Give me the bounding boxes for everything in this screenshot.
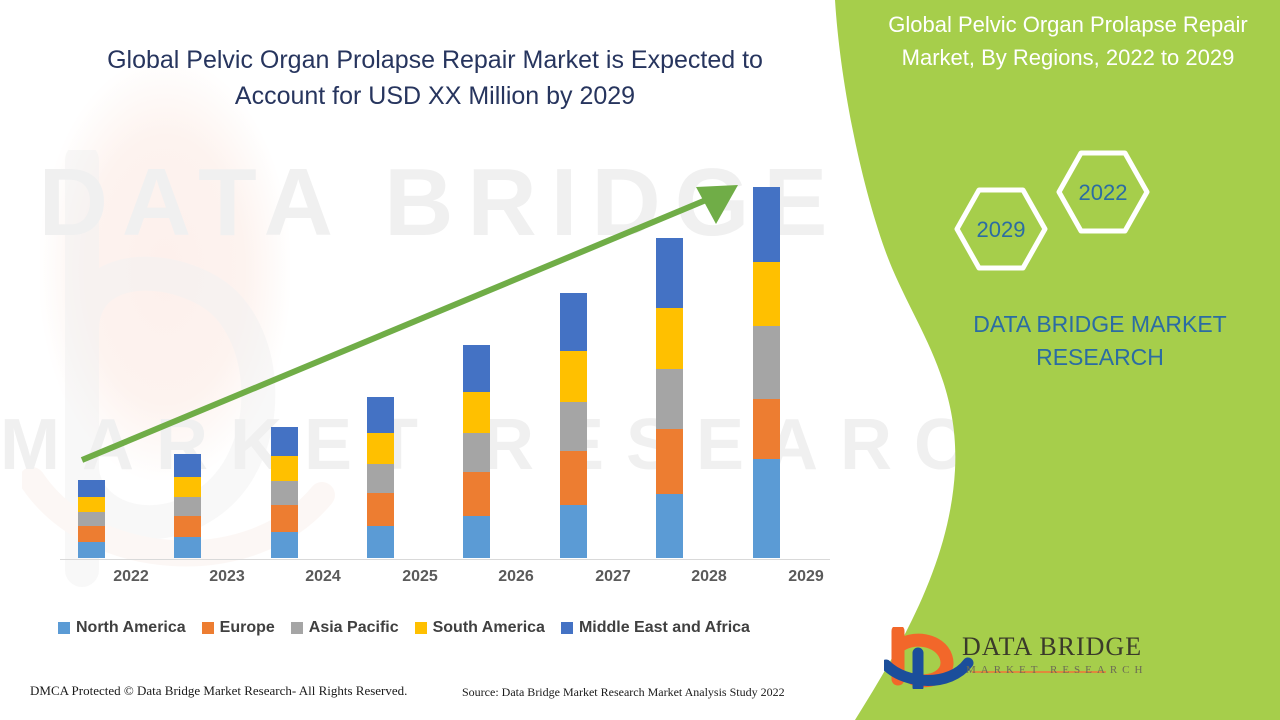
hex-label-2029: 2029 — [956, 217, 1046, 243]
x-tick-2024: 2024 — [293, 568, 353, 586]
hexagon-group: 2022 2029 — [944, 148, 1184, 278]
hexagon-outline-icon — [944, 148, 1184, 278]
legend-swatch-icon — [58, 622, 70, 634]
legend-item-europe[interactable]: Europe — [202, 619, 275, 637]
x-tick-2023: 2023 — [197, 568, 257, 586]
legend-swatch-icon — [415, 622, 427, 634]
infographic-canvas: DATA BRIDGE MARKET RESEARCH Global Pelvi… — [0, 0, 1280, 720]
copyright-notice: DMCA Protected © Data Bridge Market Rese… — [30, 683, 407, 699]
x-tick-2028: 2028 — [679, 568, 739, 586]
legend-label: Middle East and Africa — [579, 619, 750, 637]
x-tick-2026: 2026 — [486, 568, 546, 586]
legend-label: Asia Pacific — [309, 619, 399, 637]
x-tick-2029: 2029 — [776, 568, 836, 586]
legend-swatch-icon — [202, 622, 214, 634]
hex-label-2022: 2022 — [1058, 180, 1148, 206]
logo-title: DATA BRIDGE — [962, 632, 1142, 662]
legend-label: North America — [76, 619, 186, 637]
growth-arrow-icon — [60, 140, 830, 560]
panel-brand-text: DATA BRIDGE MARKET RESEARCH — [950, 308, 1250, 374]
chart-legend: North America Europe Asia Pacific South … — [58, 615, 838, 641]
legend-item-north-america[interactable]: North America — [58, 619, 186, 637]
legend-swatch-icon — [561, 622, 573, 634]
legend-item-asia-pacific[interactable]: Asia Pacific — [291, 619, 399, 637]
x-axis-labels: 2022 2023 2024 2025 2026 2027 2028 2029 — [60, 568, 830, 594]
legend-label: Europe — [220, 619, 275, 637]
x-tick-2022: 2022 — [101, 568, 161, 586]
legend-swatch-icon — [291, 622, 303, 634]
page-title: Global Pelvic Organ Prolapse Repair Mark… — [70, 42, 800, 114]
source-note: Source: Data Bridge Market Research Mark… — [462, 685, 785, 700]
legend-item-south-america[interactable]: South America — [415, 619, 545, 637]
logo-subtitle: MARKET RESEARCH — [966, 664, 1147, 676]
x-tick-2025: 2025 — [390, 568, 450, 586]
panel-title: Global Pelvic Organ Prolapse Repair Mark… — [868, 8, 1268, 74]
legend-label: South America — [433, 619, 545, 637]
x-tick-2027: 2027 — [583, 568, 643, 586]
legend-item-middle-east-and-africa[interactable]: Middle East and Africa — [561, 619, 750, 637]
